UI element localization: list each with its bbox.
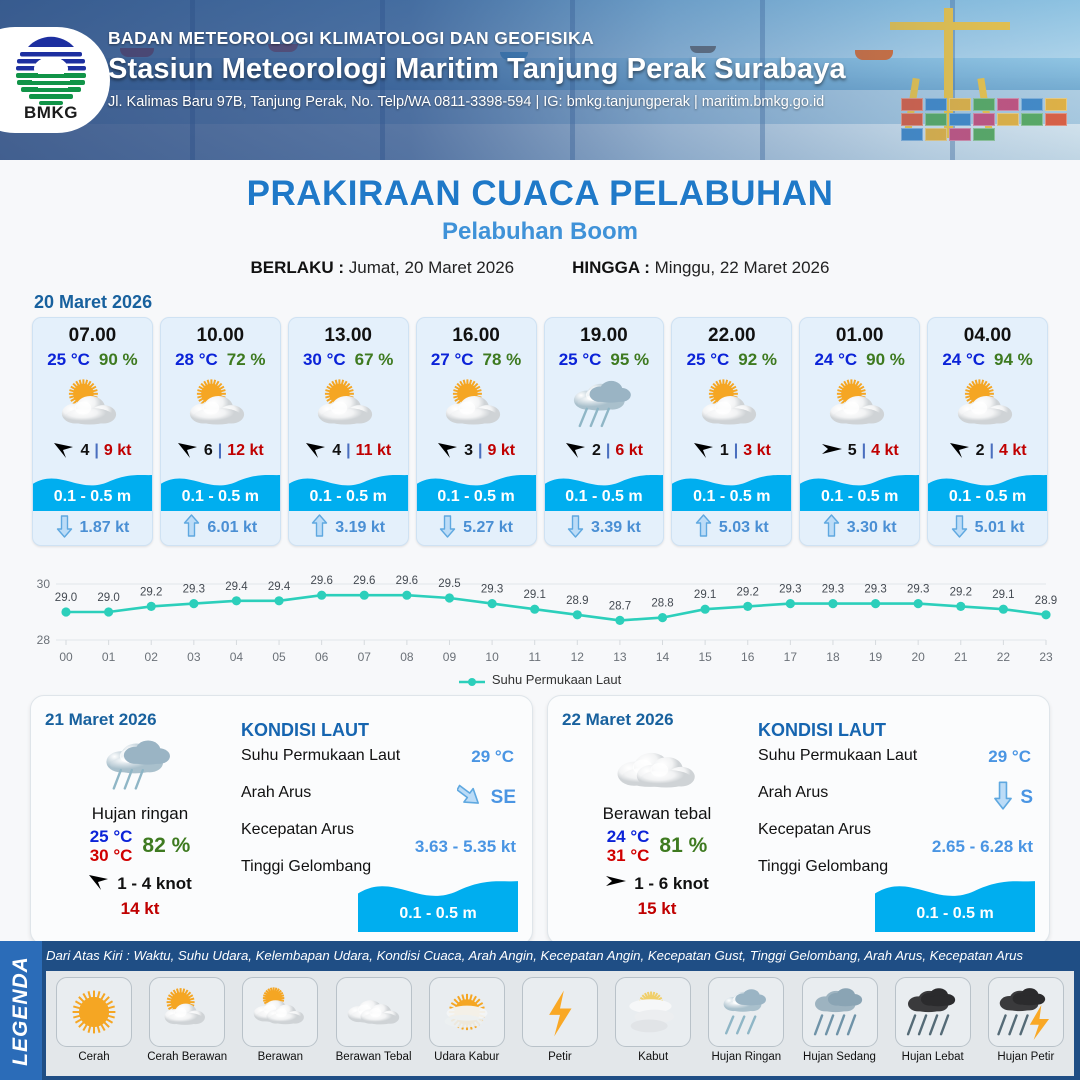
valid-from-value: Jumat, 20 Maret 2026: [349, 258, 514, 277]
wave-height: 0.1 - 0.5 m: [545, 488, 664, 506]
current-direction-arrow-icon: [183, 514, 200, 543]
svg-text:29.3: 29.3: [822, 584, 844, 596]
current-speed-label: Kecepatan Arus: [758, 821, 871, 838]
current-speed: 5.03 kt: [719, 519, 769, 537]
svg-text:12: 12: [571, 650, 585, 664]
svg-text:19: 19: [869, 650, 883, 664]
svg-text:09: 09: [443, 650, 457, 664]
current-direction-label: Arah Arus: [758, 784, 828, 801]
weather-icon-cerah-berawan: [800, 372, 919, 436]
card-temp-hum: 24 °C 90 %: [800, 350, 919, 370]
legend-note: Dari Atas Kiri : Waktu, Suhu Udara, Kele…: [46, 948, 1076, 963]
daily-forecast-row: 21 Maret 2026 Hujan ringan 25 °C 30 °C: [0, 687, 1080, 945]
svg-text:21: 21: [954, 650, 968, 664]
svg-text:13: 13: [613, 650, 627, 664]
card-wave-band: 0.1 - 0.5 m: [928, 467, 1047, 511]
legend-icon-hujan-lebat: [895, 977, 971, 1047]
card-temperature: 25 °C: [559, 350, 602, 370]
card-temperature: 24 °C: [942, 350, 985, 370]
legend-item: Hujan Ringan: [704, 977, 788, 1076]
card-temp-hum: 25 °C 92 %: [672, 350, 791, 370]
sea-conditions: KONDISI LAUT Suhu Permukaan Laut 29 °C A…: [235, 710, 520, 934]
legend-icon-hujan-petir: [988, 977, 1064, 1047]
svg-text:29.6: 29.6: [310, 575, 332, 587]
current-direction-arrow-icon: [992, 780, 1014, 815]
svg-text:17: 17: [784, 650, 798, 664]
daily-forecast-panel[interactable]: 21 Maret 2026 Hujan ringan 25 °C 30 °C: [30, 695, 533, 945]
page-subtitle: Pelabuhan Boom: [0, 218, 1080, 246]
card-temp-hum: 28 °C 72 %: [161, 350, 280, 370]
gust-speed: 11 kt: [356, 442, 392, 460]
svg-text:29.3: 29.3: [183, 584, 205, 596]
daily-gust: 15 kt: [638, 899, 677, 919]
sst-label: Suhu Permukaan Laut: [241, 747, 400, 764]
weather-icon-cerah-berawan: [289, 372, 408, 436]
card-wave-band: 0.1 - 0.5 m: [417, 467, 536, 511]
legend-item-label: Udara Kabur: [434, 1051, 499, 1063]
card-temperature: 28 °C: [175, 350, 218, 370]
svg-text:07: 07: [358, 650, 372, 664]
card-temp-hum: 27 °C 78 %: [417, 350, 536, 370]
svg-text:30: 30: [37, 577, 51, 591]
wind-speed: 1: [720, 442, 729, 460]
wind-direction-arrow-icon: [53, 439, 75, 464]
card-temperature: 30 °C: [303, 350, 346, 370]
svg-text:29.5: 29.5: [438, 578, 460, 590]
current-direction-value: S: [1020, 787, 1033, 809]
bmkg-emblem-icon: [8, 35, 94, 109]
gust-speed: 12 kt: [227, 442, 263, 460]
card-wave-band: 0.1 - 0.5 m: [545, 467, 664, 511]
hourly-forecast-card[interactable]: 22.00 25 °C 92 % 1 | 3 kt 0.1 -: [671, 317, 792, 546]
gust-speed: 4 kt: [871, 442, 899, 460]
card-current-row: 1.87 kt: [33, 511, 152, 545]
weather-icon-berawan-tebal: [609, 732, 705, 798]
current-speed-label: Kecepatan Arus: [241, 821, 354, 838]
card-wind-row: 3 | 9 kt: [417, 438, 536, 464]
legend-item: Berawan: [238, 977, 322, 1076]
wave-height: 0.1 - 0.5 m: [417, 488, 536, 506]
weather-icon-hujan-ringan: [545, 372, 664, 436]
legend-item-label: Hujan Petir: [997, 1051, 1054, 1063]
svg-text:28.8: 28.8: [651, 598, 673, 610]
wind-speed: 2: [592, 442, 601, 460]
wind-separator: |: [862, 442, 866, 460]
svg-text:04: 04: [230, 650, 244, 664]
card-time: 01.00: [800, 318, 919, 347]
legend-item-label: Cerah Berawan: [147, 1051, 227, 1063]
wind-separator: |: [734, 442, 738, 460]
svg-text:29.2: 29.2: [140, 586, 162, 598]
current-speed-row: Kecepatan Arus 2.65 - 6.28 kt: [758, 821, 1037, 858]
card-wind-row: 4 | 11 kt: [289, 438, 408, 464]
daily-wind-range: 1 - 4 knot: [117, 874, 192, 894]
svg-text:28.9: 28.9: [566, 595, 588, 607]
daily-wind: 1 - 4 knot: [88, 871, 192, 896]
svg-text:28.7: 28.7: [609, 600, 631, 612]
wave-height-badge: 0.1 - 0.5 m: [875, 870, 1035, 932]
svg-text:11: 11: [528, 650, 541, 664]
hourly-forecast-card[interactable]: 01.00 24 °C 90 % 5 | 4 kt 0.1 -: [799, 317, 920, 546]
card-time: 22.00: [672, 318, 791, 347]
card-wind-row: 2 | 6 kt: [545, 438, 664, 464]
hourly-date-label: 20 Maret 2026: [34, 292, 1080, 313]
daily-gust: 14 kt: [121, 899, 160, 919]
svg-text:06: 06: [315, 650, 329, 664]
svg-text:29.0: 29.0: [55, 592, 77, 604]
sea-conditions: KONDISI LAUT Suhu Permukaan Laut 29 °C A…: [752, 710, 1037, 934]
svg-text:03: 03: [187, 650, 201, 664]
chart-legend-marker-icon: [459, 675, 485, 685]
card-temp-hum: 25 °C 95 %: [545, 350, 664, 370]
daily-summary: 21 Maret 2026 Hujan ringan 25 °C 30 °C: [45, 710, 235, 934]
svg-text:29.2: 29.2: [737, 586, 759, 598]
card-time: 04.00: [928, 318, 1047, 347]
legend-icon-berawan: [242, 977, 318, 1047]
legend-item-label: Berawan Tebal: [336, 1051, 412, 1063]
wind-speed: 4: [80, 442, 89, 460]
card-humidity: 94 %: [994, 350, 1033, 370]
current-speed: 1.87 kt: [80, 519, 130, 537]
svg-text:08: 08: [400, 650, 414, 664]
weather-icon-cerah-berawan: [161, 372, 280, 436]
gust-speed: 6 kt: [615, 442, 643, 460]
svg-text:29.0: 29.0: [97, 592, 119, 604]
legend-item: Hujan Sedang: [798, 977, 882, 1076]
valid-from: BERLAKU : Jumat, 20 Maret 2026: [251, 258, 515, 278]
current-direction-arrow-icon: [311, 514, 328, 543]
card-wind-row: 6 | 12 kt: [161, 438, 280, 464]
gust-speed: 4 kt: [999, 442, 1027, 460]
page-title: PRAKIRAAN CUACA PELABUHAN: [0, 174, 1080, 214]
bmkg-logo-mark: BMKG: [8, 35, 94, 125]
svg-text:29.1: 29.1: [524, 589, 546, 601]
svg-text:28.9: 28.9: [1035, 595, 1057, 607]
title-block: PRAKIRAAN CUACA PELABUHAN Pelabuhan Boom…: [0, 174, 1080, 278]
bmkg-logo: BMKG: [0, 27, 110, 133]
card-humidity: 67 %: [355, 350, 394, 370]
svg-text:20: 20: [911, 650, 925, 664]
card-time: 19.00: [545, 318, 664, 347]
wind-speed: 6: [204, 442, 213, 460]
legend-icon-kabut: [615, 977, 691, 1047]
card-humidity: 92 %: [738, 350, 777, 370]
weather-icon-cerah-berawan: [672, 372, 791, 436]
svg-text:15: 15: [698, 650, 712, 664]
wind-separator: |: [606, 442, 610, 460]
current-direction-arrow-icon: [56, 514, 73, 543]
station-name: Stasiun Meteorologi Maritim Tanjung Pera…: [108, 53, 1048, 86]
current-direction-value: SE: [491, 787, 516, 809]
current-speed-row: Kecepatan Arus 3.63 - 5.35 kt: [241, 821, 520, 858]
current-direction-row: Arah Arus SE: [241, 784, 520, 821]
sea-conditions-title: KONDISI LAUT: [241, 720, 520, 741]
weather-icon-cerah-berawan: [33, 372, 152, 436]
wave-height: 0.1 - 0.5 m: [289, 488, 408, 506]
wind-direction-arrow-icon: [305, 439, 327, 464]
legend-icon-udara-kabur: [429, 977, 505, 1047]
current-direction-label: Arah Arus: [241, 784, 311, 801]
valid-to-label: HINGGA :: [572, 258, 650, 277]
wave-height-label: Tinggi Gelombang: [241, 858, 371, 875]
daily-temps: 24 °C 31 °C 81 %: [607, 827, 708, 865]
wave-height: 0.1 - 0.5 m: [161, 488, 280, 506]
legend-item-label: Hujan Ringan: [711, 1051, 781, 1063]
current-speed: 5.27 kt: [463, 519, 513, 537]
hourly-forecast-card[interactable]: 19.00 25 °C 95 % 2 | 6 kt: [544, 317, 665, 546]
wind-direction-arrow-icon: [605, 871, 627, 896]
card-temperature: 25 °C: [47, 350, 90, 370]
valid-to: HINGGA : Minggu, 22 Maret 2026: [572, 258, 829, 278]
wind-direction-arrow-icon: [949, 439, 971, 464]
svg-text:29.3: 29.3: [864, 584, 886, 596]
card-time: 13.00: [289, 318, 408, 347]
card-wave-band: 0.1 - 0.5 m: [289, 467, 408, 511]
validity-row: BERLAKU : Jumat, 20 Maret 2026 HINGGA : …: [0, 258, 1080, 278]
gust-speed: 3 kt: [743, 442, 771, 460]
current-speed: 3.19 kt: [335, 519, 385, 537]
svg-text:29.6: 29.6: [353, 575, 375, 587]
valid-from-label: BERLAKU :: [251, 258, 345, 277]
daily-condition: Berawan tebal: [603, 804, 712, 824]
wind-separator: |: [218, 442, 222, 460]
hourly-forecast-card[interactable]: 13.00 30 °C 67 % 4 | 11 kt 0.1: [288, 317, 409, 546]
svg-text:18: 18: [826, 650, 840, 664]
sst-label: Suhu Permukaan Laut: [758, 747, 917, 764]
current-direction-value-wrap: SE: [457, 780, 516, 815]
legend-item-label: Hujan Lebat: [902, 1051, 964, 1063]
card-current-row: 5.03 kt: [672, 511, 791, 545]
card-temp-hum: 24 °C 94 %: [928, 350, 1047, 370]
card-temp-hum: 30 °C 67 %: [289, 350, 408, 370]
daily-date: 22 Maret 2026: [562, 710, 674, 730]
daily-humidity: 82 %: [142, 834, 190, 858]
gust-speed: 9 kt: [487, 442, 515, 460]
daily-summary: 22 Maret 2026 Berawan tebal 24 °C 31 °C: [562, 710, 752, 934]
legend-item-label: Hujan Sedang: [803, 1051, 876, 1063]
current-speed: 3.30 kt: [847, 519, 897, 537]
card-humidity: 90 %: [99, 350, 138, 370]
svg-text:01: 01: [102, 650, 116, 664]
card-current-row: 3.39 kt: [545, 511, 664, 545]
card-current-row: 5.27 kt: [417, 511, 536, 545]
wave-height: 0.1 - 0.5 m: [928, 488, 1047, 506]
wave-height-badge: 0.1 - 0.5 m: [358, 870, 518, 932]
legend-item: Berawan Tebal: [332, 977, 416, 1076]
sst-row: Suhu Permukaan Laut 29 °C: [758, 747, 1037, 784]
wind-direction-arrow-icon: [177, 439, 199, 464]
wind-direction-arrow-icon: [565, 439, 587, 464]
card-current-row: 6.01 kt: [161, 511, 280, 545]
current-speed: 3.39 kt: [591, 519, 641, 537]
card-current-row: 5.01 kt: [928, 511, 1047, 545]
legend-item-label: Cerah: [78, 1051, 109, 1063]
legend-section: LEGENDA Dari Atas Kiri : Waktu, Suhu Uda…: [0, 941, 1080, 1080]
sst-chart: 283029.00029.00129.20229.30329.40429.405…: [18, 558, 1062, 670]
wind-direction-arrow-icon: [437, 439, 459, 464]
legend-item-label: Berawan: [258, 1051, 303, 1063]
legend-item: Kabut: [611, 977, 695, 1076]
current-direction-arrow-icon: [951, 514, 968, 543]
sst-value: 29 °C: [988, 747, 1031, 767]
current-speed: 6.01 kt: [207, 519, 257, 537]
current-speed: 5.01 kt: [975, 519, 1025, 537]
svg-text:29.3: 29.3: [779, 584, 801, 596]
daily-temp-min: 25 °C: [90, 827, 133, 846]
svg-text:29.6: 29.6: [396, 575, 418, 587]
wind-separator: |: [478, 442, 482, 460]
valid-to-value: Minggu, 22 Maret 2026: [655, 258, 830, 277]
legend-side-bar: LEGENDA: [0, 941, 42, 1080]
card-temperature: 27 °C: [431, 350, 474, 370]
gust-speed: 9 kt: [104, 442, 132, 460]
legend-icon-hujan-ringan: [708, 977, 784, 1047]
header-text-block: BADAN METEOROLOGI KLIMATOLOGI DAN GEOFIS…: [108, 28, 1048, 110]
legend-side-label: LEGENDA: [9, 956, 33, 1066]
card-time: 16.00: [417, 318, 536, 347]
legend-item: Hujan Petir: [984, 977, 1068, 1076]
hourly-forecast-card[interactable]: 07.00 25 °C 90 % 4 | 9 kt 0.1 -: [32, 317, 153, 546]
card-humidity: 95 %: [610, 350, 649, 370]
daily-temp-max: 30 °C: [90, 846, 133, 865]
svg-text:00: 00: [59, 650, 73, 664]
wind-separator: |: [989, 442, 993, 460]
card-wind-row: 5 | 4 kt: [800, 438, 919, 464]
weather-icon-cerah-berawan: [928, 372, 1047, 436]
sst-chart-svg: 283029.00029.00129.20229.30329.40429.405…: [18, 558, 1062, 670]
svg-text:02: 02: [145, 650, 159, 664]
sea-conditions-title: KONDISI LAUT: [758, 720, 1037, 741]
legend-icon-cerah-berawan: [149, 977, 225, 1047]
sst-row: Suhu Permukaan Laut 29 °C: [241, 747, 520, 784]
wave-height: 0.1 - 0.5 m: [672, 488, 791, 506]
daily-humidity: 81 %: [659, 834, 707, 858]
card-wave-band: 0.1 - 0.5 m: [672, 467, 791, 511]
current-speed-value: 3.63 - 5.35 kt: [415, 837, 516, 857]
legend-item: Cerah Berawan: [145, 977, 229, 1076]
legend-item: Udara Kabur: [425, 977, 509, 1076]
card-humidity: 78 %: [483, 350, 522, 370]
agency-name: BADAN METEOROLOGI KLIMATOLOGI DAN GEOFIS…: [108, 28, 1048, 49]
legend-icon-petir: [522, 977, 598, 1047]
card-time: 07.00: [33, 318, 152, 347]
current-direction-arrow-icon: [457, 780, 485, 815]
current-direction-arrow-icon: [567, 514, 584, 543]
svg-text:10: 10: [485, 650, 499, 664]
wind-separator: |: [94, 442, 98, 460]
daily-condition: Hujan ringan: [92, 804, 188, 824]
card-temp-hum: 25 °C 90 %: [33, 350, 152, 370]
daily-forecast-panel[interactable]: 22 Maret 2026 Berawan tebal 24 °C 31 °C: [547, 695, 1050, 945]
wind-speed: 2: [976, 442, 985, 460]
card-wave-band: 0.1 - 0.5 m: [800, 467, 919, 511]
current-direction-arrow-icon: [695, 514, 712, 543]
svg-text:14: 14: [656, 650, 670, 664]
svg-text:16: 16: [741, 650, 755, 664]
svg-text:29.1: 29.1: [992, 589, 1014, 601]
svg-text:05: 05: [272, 650, 286, 664]
card-current-row: 3.19 kt: [289, 511, 408, 545]
svg-text:29.1: 29.1: [694, 589, 716, 601]
daily-temp-min: 24 °C: [607, 827, 650, 846]
wind-speed: 5: [848, 442, 857, 460]
card-humidity: 72 %: [227, 350, 266, 370]
svg-text:29.4: 29.4: [268, 581, 291, 593]
legend-item-label: Kabut: [638, 1051, 668, 1063]
wave-height-value: 0.1 - 0.5 m: [358, 905, 518, 923]
chart-legend: Suhu Permukaan Laut: [0, 672, 1080, 687]
card-wave-band: 0.1 - 0.5 m: [33, 467, 152, 511]
card-wave-band: 0.1 - 0.5 m: [161, 467, 280, 511]
bmkg-logo-text: BMKG: [8, 103, 94, 123]
svg-text:29.3: 29.3: [907, 584, 929, 596]
svg-text:29.2: 29.2: [950, 586, 972, 598]
wave-height-value: 0.1 - 0.5 m: [875, 905, 1035, 923]
chart-legend-label: Suhu Permukaan Laut: [492, 672, 621, 687]
hourly-forecast-card[interactable]: 04.00 24 °C 94 % 2 | 4 kt 0.1 -: [927, 317, 1048, 546]
current-direction-arrow-icon: [439, 514, 456, 543]
legend-item: Cerah: [52, 977, 136, 1076]
card-temperature: 24 °C: [814, 350, 857, 370]
hourly-forecast-row: 07.00 25 °C 90 % 4 | 9 kt 0.1 -: [0, 317, 1080, 546]
wind-direction-arrow-icon: [88, 871, 110, 896]
hourly-forecast-card[interactable]: 10.00 28 °C 72 % 6 | 12 kt 0.1: [160, 317, 281, 546]
page-header: BMKG BADAN METEOROLOGI KLIMATOLOGI DAN G…: [0, 0, 1080, 160]
current-direction-value-wrap: S: [992, 780, 1033, 815]
sst-value: 29 °C: [471, 747, 514, 767]
wave-height-label: Tinggi Gelombang: [758, 858, 888, 875]
legend-item-label: Petir: [548, 1051, 572, 1063]
svg-text:22: 22: [997, 650, 1011, 664]
card-humidity: 90 %: [866, 350, 905, 370]
hourly-forecast-card[interactable]: 16.00 27 °C 78 % 3 | 9 kt 0.1 -: [416, 317, 537, 546]
legend-icon-cerah: [56, 977, 132, 1047]
daily-temp-max: 31 °C: [607, 846, 650, 865]
svg-text:28: 28: [37, 633, 51, 647]
wind-speed: 3: [464, 442, 473, 460]
daily-date: 21 Maret 2026: [45, 710, 157, 730]
contact-line: Jl. Kalimas Baru 97B, Tanjung Perak, No.…: [108, 94, 1048, 110]
legend-icon-berawan-tebal: [336, 977, 412, 1047]
current-speed-value: 2.65 - 6.28 kt: [932, 837, 1033, 857]
svg-text:23: 23: [1039, 650, 1053, 664]
legend-icon-hujan-sedang: [802, 977, 878, 1047]
weather-icon-cerah-berawan: [417, 372, 536, 436]
svg-text:29.3: 29.3: [481, 584, 503, 596]
svg-text:29.4: 29.4: [225, 581, 248, 593]
card-current-row: 3.30 kt: [800, 511, 919, 545]
wave-height: 0.1 - 0.5 m: [33, 488, 152, 506]
wind-direction-arrow-icon: [693, 439, 715, 464]
current-direction-arrow-icon: [823, 514, 840, 543]
daily-wind-range: 1 - 6 knot: [634, 874, 709, 894]
legend-items: Cerah Cerah Berawan: [46, 971, 1074, 1076]
daily-wind: 1 - 6 knot: [605, 871, 709, 896]
legend-item: Hujan Lebat: [891, 977, 975, 1076]
wind-direction-arrow-icon: [821, 439, 843, 464]
card-temperature: 25 °C: [687, 350, 730, 370]
wave-height: 0.1 - 0.5 m: [800, 488, 919, 506]
weather-icon-hujan-ringan: [92, 732, 188, 798]
card-time: 10.00: [161, 318, 280, 347]
current-direction-row: Arah Arus S: [758, 784, 1037, 821]
card-wind-row: 4 | 9 kt: [33, 438, 152, 464]
card-wind-row: 1 | 3 kt: [672, 438, 791, 464]
daily-temps: 25 °C 30 °C 82 %: [90, 827, 191, 865]
wind-speed: 4: [332, 442, 341, 460]
card-wind-row: 2 | 4 kt: [928, 438, 1047, 464]
legend-item: Petir: [518, 977, 602, 1076]
